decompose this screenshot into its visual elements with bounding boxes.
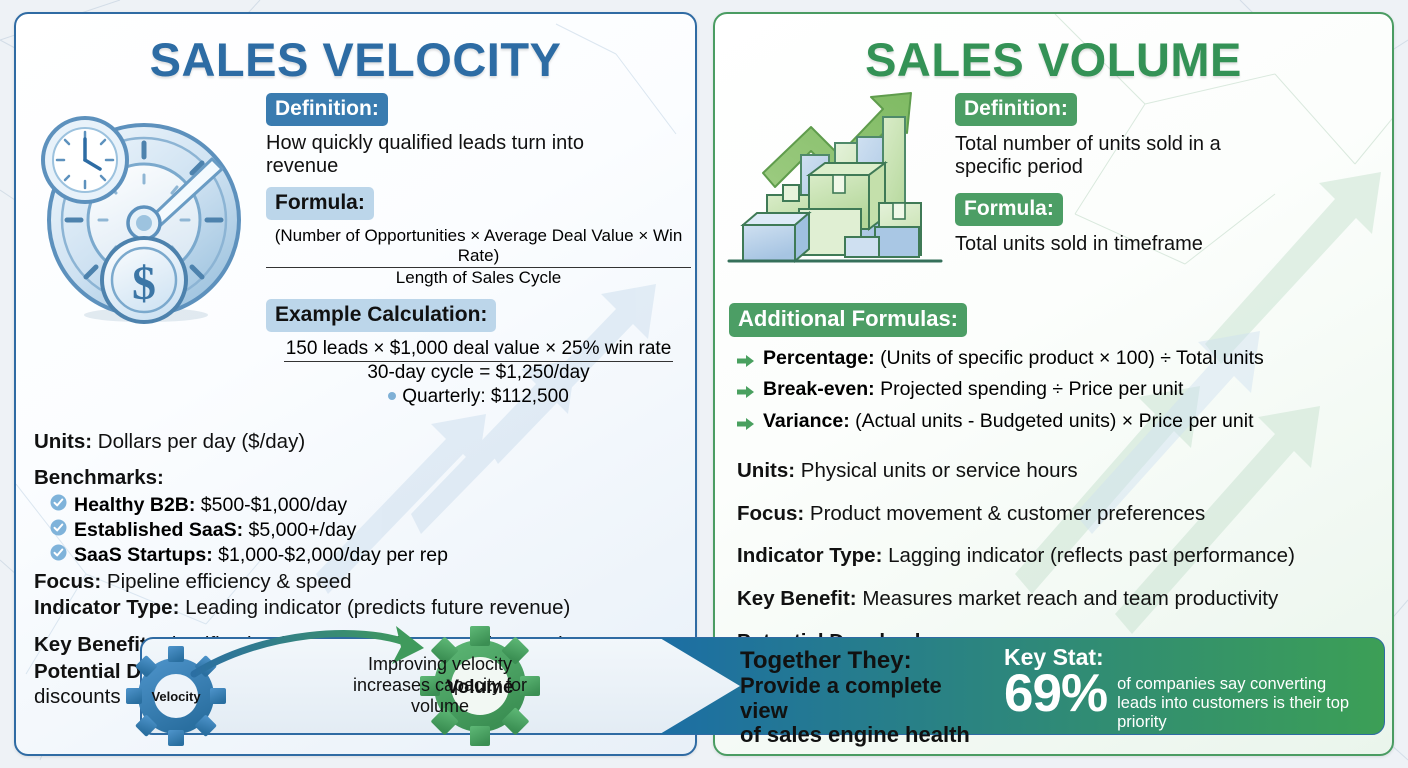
benefit-label-right: Key Benefit: xyxy=(737,587,857,610)
benchmark-label: Healthy B2B: xyxy=(74,494,195,516)
benchmark-item: Healthy B2B: $500-$1,000/day xyxy=(50,494,695,517)
units-row-left: Units: Dollars per day ($/day) xyxy=(34,430,695,455)
example-numerator: 150 leads × $1,000 deal value × 25% win … xyxy=(284,338,674,362)
arrow-right-icon xyxy=(737,377,755,405)
key-stat-number: 69% xyxy=(1004,669,1107,719)
focus-value-left: Pipeline efficiency & speed xyxy=(107,570,352,593)
indicator-value-right: Lagging indicator (reflects past perform… xyxy=(888,544,1295,567)
example-note: Quarterly: $112,500 xyxy=(402,386,569,407)
focus-label-left: Focus: xyxy=(34,570,101,593)
page-title-right: SALES VOLUME xyxy=(715,14,1392,83)
benchmark-item: Established SaaS: $5,000+/day xyxy=(50,519,695,542)
arrow-right-icon xyxy=(737,409,755,437)
formula-tag-left: Formula: xyxy=(266,187,374,220)
example-tag-left: Example Calculation: xyxy=(266,299,496,332)
indicator-row-right: Indicator Type: Lagging indicator (refle… xyxy=(729,544,1392,569)
together-they-line2: of sales engine health xyxy=(740,723,990,748)
formula-denominator: Length of Sales Cycle xyxy=(266,268,691,288)
additional-formula-label: Break-even: xyxy=(763,378,875,400)
indicator-row-left: Indicator Type: Leading indicator (predi… xyxy=(34,596,695,621)
additional-formula-label: Variance: xyxy=(763,410,850,432)
benchmark-value: $5,000+/day xyxy=(249,519,357,541)
benefit-value-right: Measures market reach and team productiv… xyxy=(862,587,1278,610)
additional-formula-value: (Units of specific product × 100) ÷ Tota… xyxy=(880,347,1264,369)
indicator-value-left: Leading indicator (predicts future reven… xyxy=(185,596,570,619)
definition-tag-left: Definition: xyxy=(266,93,388,126)
speedometer-clock-dollar-icon: $ xyxy=(16,87,266,408)
additional-formula-label: Percentage: xyxy=(763,347,875,369)
additional-formula-item: Break-even: Projected spending ÷ Price p… xyxy=(737,377,1392,405)
focus-value-right: Product movement & customer preferences xyxy=(810,502,1205,525)
units-value-right: Physical units or service hours xyxy=(801,459,1078,482)
additional-formula-item: Variance: (Actual units - Budgeted units… xyxy=(737,409,1392,437)
benchmarks-label: Benchmarks: xyxy=(34,466,695,491)
arrow-right-icon xyxy=(737,346,755,374)
together-they-block: Together They: Provide a complete view o… xyxy=(740,648,990,748)
units-label-right: Units: xyxy=(737,459,795,482)
focus-row-left: Focus: Pipeline efficiency & speed xyxy=(34,570,695,595)
gear-caption: Improving velocity increases capacity fo… xyxy=(340,654,540,717)
indicator-label-right: Indicator Type: xyxy=(737,544,882,567)
benchmark-item: SaaS Startups: $1,000-$2,000/day per rep xyxy=(50,544,695,567)
check-circle-icon xyxy=(50,519,67,542)
velocity-volume-gear-diagram: Velocity Volume xyxy=(110,622,580,750)
benchmark-value: $1,000-$2,000/day per rep xyxy=(218,544,448,566)
benchmark-label: Established SaaS: xyxy=(74,519,243,541)
focus-label-right: Focus: xyxy=(737,502,804,525)
definition-text-left: How quickly qualified leads turn into re… xyxy=(266,132,596,178)
boxes-bar-chart-arrow-icon xyxy=(715,85,955,290)
check-circle-icon xyxy=(50,494,67,517)
page-title-left: SALES VELOCITY xyxy=(16,14,695,83)
together-they-line1: Provide a complete view xyxy=(740,674,990,723)
bullet-dot-icon xyxy=(388,392,396,400)
together-they-label: Together They: xyxy=(740,648,990,674)
focus-row-right: Focus: Product movement & customer prefe… xyxy=(729,502,1392,527)
formula-tag-right: Formula: xyxy=(955,193,1063,226)
key-stat-text: of companies say converting leads into c… xyxy=(1117,669,1362,732)
additional-formula-value: Projected spending ÷ Price per unit xyxy=(880,378,1183,400)
units-label-left: Units: xyxy=(34,430,92,453)
units-row-right: Units: Physical units or service hours xyxy=(729,459,1392,484)
formula-text-right: Total units sold in timeframe xyxy=(955,233,1392,256)
definition-text-right: Total number of units sold in a specific… xyxy=(955,133,1265,179)
example-denominator: 30-day cycle = $1,250/day xyxy=(266,362,691,384)
formula-numerator: (Number of Opportunities × Average Deal … xyxy=(266,226,691,268)
additional-formula-value: (Actual units - Budgeted units) × Price … xyxy=(855,410,1253,432)
key-stat-block: Key Stat: 69% of companies say convertin… xyxy=(1004,645,1362,733)
check-circle-icon xyxy=(50,544,67,567)
velocity-gear-label: Velocity xyxy=(151,689,201,704)
units-value-left: Dollars per day ($/day) xyxy=(98,430,305,453)
benchmark-value: $500-$1,000/day xyxy=(201,494,347,516)
additional-formulas-tag: Additional Formulas: xyxy=(729,303,967,337)
definition-tag-right: Definition: xyxy=(955,93,1077,126)
svg-text:$: $ xyxy=(132,257,156,310)
indicator-label-left: Indicator Type: xyxy=(34,596,179,619)
benefit-row-right: Key Benefit: Measures market reach and t… xyxy=(729,587,1392,612)
benchmark-label: SaaS Startups: xyxy=(74,544,213,566)
additional-formula-item: Percentage: (Units of specific product ×… xyxy=(737,346,1392,374)
